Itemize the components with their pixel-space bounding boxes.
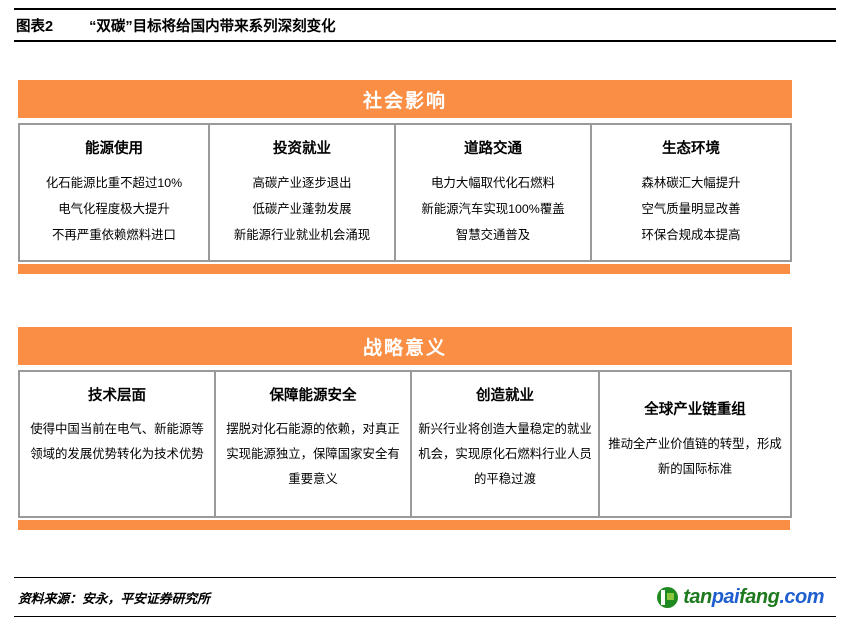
figure-header: 图表2 “双碳”目标将给国内带来系列深刻变化 bbox=[14, 8, 836, 42]
cell-line: 低碳产业蓬勃发展 bbox=[252, 196, 351, 222]
table-social-impact: 能源使用 化石能源比重不超过10% 电气化程度极大提升 不再严重依赖燃料进口 投… bbox=[18, 123, 792, 262]
cell-line: 空气质量明显改善 bbox=[641, 196, 740, 222]
section-strategic-significance: 战略意义 技术层面 使得中国当前在电气、新能源等领域的发展优势转化为技术优势 保… bbox=[18, 327, 792, 530]
section-banner-social: 社会影响 bbox=[18, 80, 792, 118]
table-cell-energy-security: 保障能源安全 摆脱对化石能源的依赖，对真正实现能源独立，保障国家安全有重要意义 bbox=[216, 372, 412, 516]
page-title: “双碳”目标将给国内带来系列深刻变化 bbox=[89, 15, 336, 36]
cell-title: 全球产业链重组 bbox=[644, 398, 746, 419]
table-cell-technology-level: 技术层面 使得中国当前在电气、新能源等领域的发展优势转化为技术优势 bbox=[20, 372, 216, 516]
cell-line: 新能源行业就业机会涌现 bbox=[234, 222, 370, 248]
site-logo: tanpaifang.com bbox=[657, 586, 836, 609]
table-cell-investment-employment: 投资就业 高碳产业逐步退出 低碳产业蓬勃发展 新能源行业就业机会涌现 bbox=[210, 125, 396, 260]
section-underbar bbox=[18, 264, 790, 274]
figure-footer: 资料来源：安永，平安证券研究所 tanpaifang.com bbox=[14, 577, 836, 617]
cell-line: 智慧交通普及 bbox=[456, 222, 530, 248]
table-cell-job-creation: 创造就业 新兴行业将创造大量稳定的就业机会，实现原化石燃料行业人员的平稳过渡 bbox=[412, 372, 600, 516]
cell-title: 道路交通 bbox=[464, 137, 522, 158]
cell-title: 投资就业 bbox=[273, 137, 331, 158]
cell-paragraph: 推动全产业价值链的转型，形成新的国际标准 bbox=[606, 432, 784, 482]
logo-part-pai: pai bbox=[712, 586, 739, 608]
cell-line: 新能源汽车实现100%覆盖 bbox=[421, 196, 564, 222]
logo-part-tan: tan bbox=[683, 586, 712, 608]
banner-title: 战略意义 bbox=[363, 333, 447, 360]
section-banner-strategic: 战略意义 bbox=[18, 327, 792, 365]
cell-title: 生态环境 bbox=[662, 137, 720, 158]
cell-line: 环保合规成本提高 bbox=[641, 222, 740, 248]
table-cell-ecological-environment: 生态环境 森林碳汇大幅提升 空气质量明显改善 环保合规成本提高 bbox=[592, 125, 790, 260]
table-cell-energy-use: 能源使用 化石能源比重不超过10% 电气化程度极大提升 不再严重依赖燃料进口 bbox=[20, 125, 210, 260]
banner-title: 社会影响 bbox=[363, 86, 447, 113]
cell-line: 电力大幅取代化石燃料 bbox=[431, 170, 555, 196]
logo-part-com: .com bbox=[779, 586, 824, 608]
table-cell-road-transport: 道路交通 电力大幅取代化石燃料 新能源汽车实现100%覆盖 智慧交通普及 bbox=[396, 125, 592, 260]
cell-line: 森林碳汇大幅提升 bbox=[641, 170, 740, 196]
figure-label: 图表2 bbox=[14, 15, 53, 36]
cell-paragraph: 使得中国当前在电气、新能源等领域的发展优势转化为技术优势 bbox=[26, 417, 208, 467]
logo-part-fang: fang bbox=[739, 586, 779, 608]
cell-line: 高碳产业逐步退出 bbox=[252, 170, 351, 196]
cell-paragraph: 新兴行业将创造大量稳定的就业机会，实现原化石燃料行业人员的平稳过渡 bbox=[418, 417, 592, 492]
leaf-circle-icon bbox=[657, 587, 678, 608]
cell-line: 电气化程度极大提升 bbox=[58, 196, 170, 222]
cell-line: 不再严重依赖燃料进口 bbox=[52, 222, 176, 248]
table-strategic-significance: 技术层面 使得中国当前在电气、新能源等领域的发展优势转化为技术优势 保障能源安全… bbox=[18, 370, 792, 518]
cell-line: 化石能源比重不超过10% bbox=[46, 170, 182, 196]
section-underbar bbox=[18, 520, 790, 530]
cell-title: 能源使用 bbox=[85, 137, 143, 158]
section-social-impact: 社会影响 能源使用 化石能源比重不超过10% 电气化程度极大提升 不再严重依赖燃… bbox=[18, 80, 792, 274]
source-note: 资料来源：安永，平安证券研究所 bbox=[14, 588, 210, 607]
cell-title: 创造就业 bbox=[476, 384, 534, 405]
logo-wordmark: tanpaifang.com bbox=[683, 586, 824, 609]
cell-title: 技术层面 bbox=[88, 384, 146, 405]
cell-title: 保障能源安全 bbox=[270, 384, 357, 405]
table-cell-global-supply-chain: 全球产业链重组 推动全产业价值链的转型，形成新的国际标准 bbox=[600, 372, 790, 516]
cell-paragraph: 摆脱对化石能源的依赖，对真正实现能源独立，保障国家安全有重要意义 bbox=[222, 417, 404, 492]
